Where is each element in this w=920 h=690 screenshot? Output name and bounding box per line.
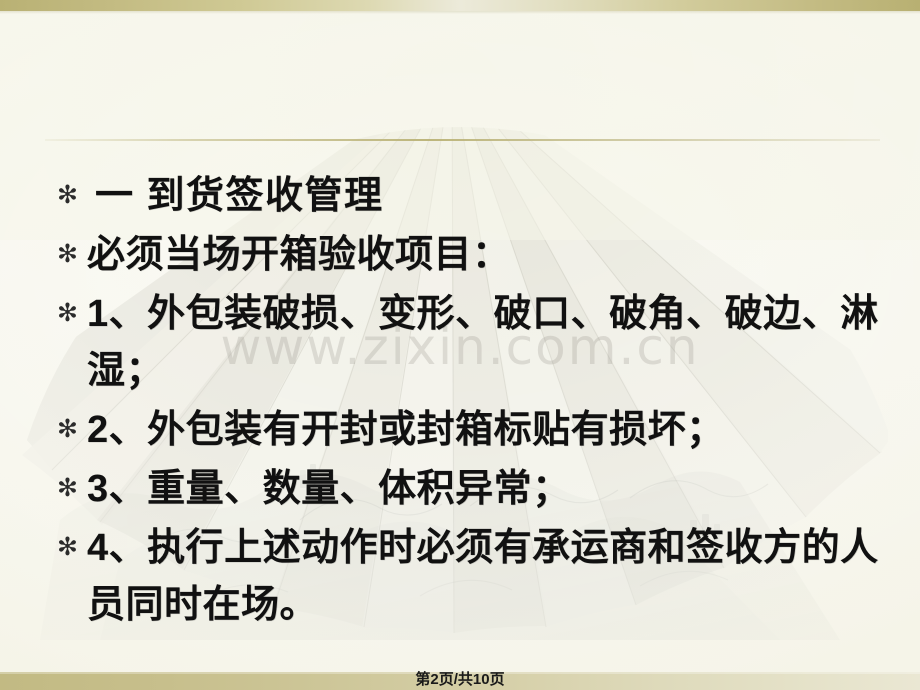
list-item: ✻ 1、外包装破损、变形、破口、破角、破边、淋湿； [52, 286, 882, 400]
slide-body-list: ✻ 一 到货签收管理 ✻ 必须当场开箱验收项目： ✻ 1、外包装破损、变形、破口… [52, 168, 882, 636]
asterisk-bullet-icon: ✻ [52, 226, 87, 282]
list-item: ✻ 3、重量、数量、体积异常； [52, 461, 882, 518]
top-gradient-band [0, 0, 920, 11]
list-item-text: 必须当场开箱验收项目： [87, 227, 882, 284]
list-item-text: 1、外包装破损、变形、破口、破角、破边、淋湿； [87, 286, 882, 400]
list-item-text: 一 到货签收管理 [87, 168, 882, 225]
list-item-text: 4、执行上述动作时必须有承运商和签收方的人员同时在场。 [87, 520, 882, 634]
list-item: ✻ 4、执行上述动作时必须有承运商和签收方的人员同时在场。 [52, 520, 882, 634]
page-number-label: 第2页/共10页 [0, 668, 920, 689]
asterisk-bullet-icon: ✻ [52, 519, 87, 575]
list-item: ✻ 一 到货签收管理 [52, 168, 882, 225]
list-item-text: 2、外包装有开封或封箱标贴有损坏； [87, 402, 882, 459]
list-item-text: 3、重量、数量、体积异常； [87, 461, 882, 518]
list-item: ✻ 必须当场开箱验收项目： [52, 227, 882, 284]
asterisk-bullet-icon: ✻ [52, 460, 87, 516]
asterisk-bullet-icon: ✻ [52, 285, 87, 341]
asterisk-bullet-icon: ✻ [52, 401, 87, 457]
asterisk-bullet-icon: ✻ [52, 167, 87, 223]
list-item: ✻ 2、外包装有开封或封箱标贴有损坏； [52, 402, 882, 459]
title-divider-rule [45, 139, 880, 141]
presentation-slide: www.zixin.com.cn ✻ 一 到货签收管理 ✻ 必须当场开箱验收项目… [0, 0, 920, 690]
top-band-shadow [0, 11, 920, 14]
